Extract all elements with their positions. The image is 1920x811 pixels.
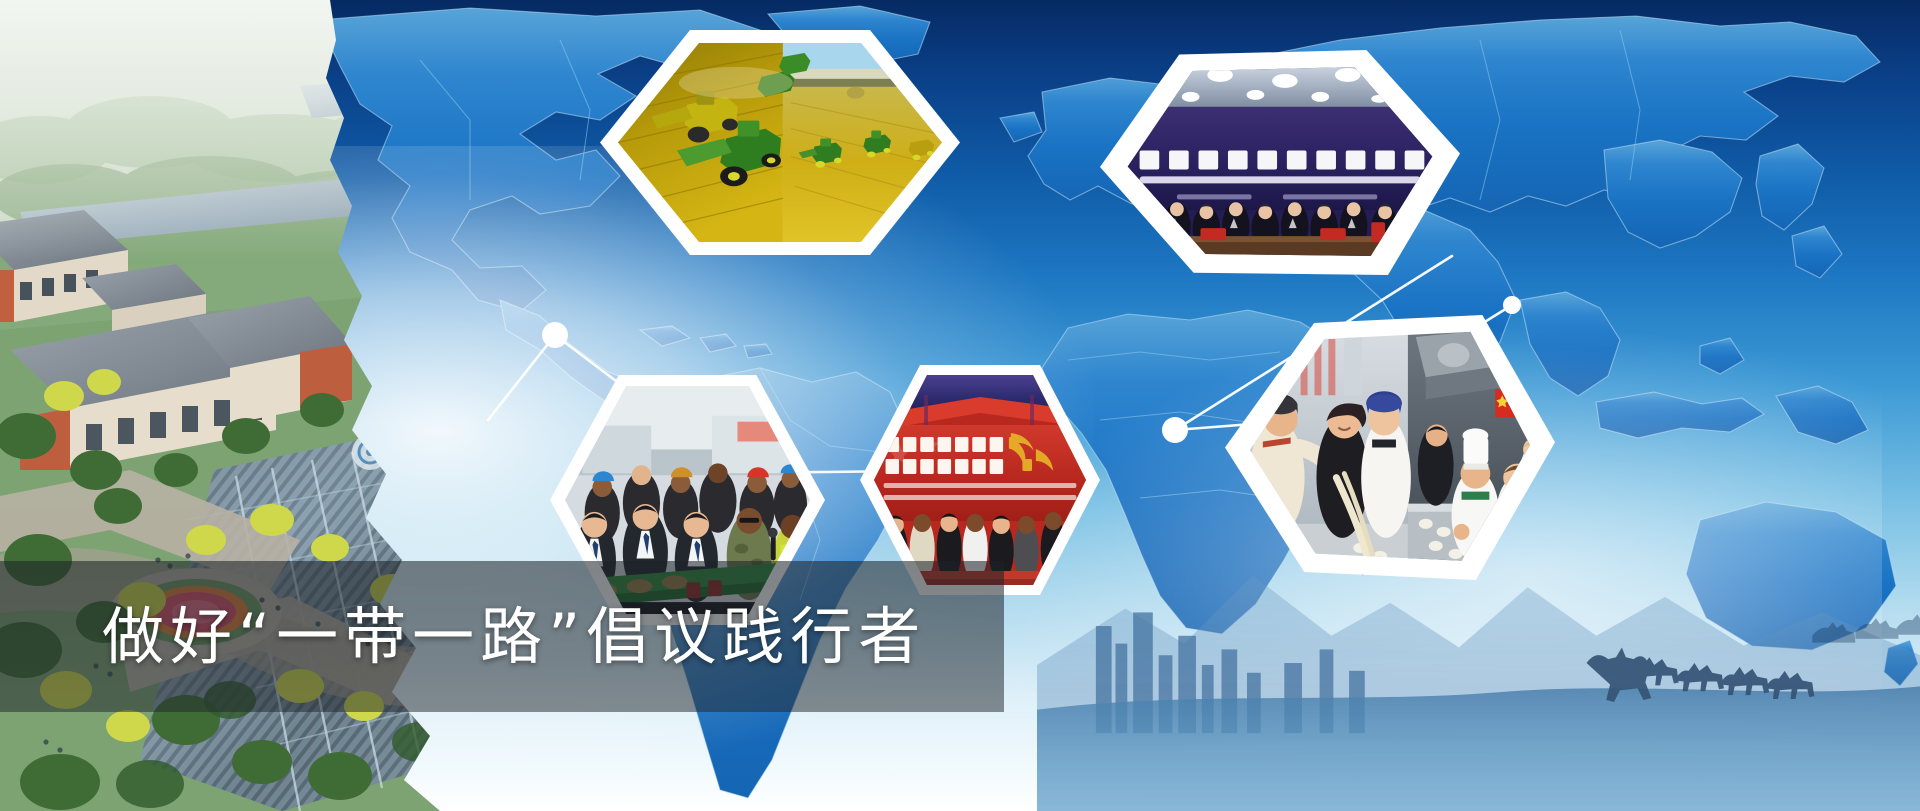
culinary-training-scene [1241, 327, 1539, 568]
opening-ceremony-scene [874, 375, 1086, 585]
headline-band: 做好“一带一路”倡议践行者 [0, 561, 1004, 712]
campus-atmospheric-haze [0, 0, 560, 260]
wheat-harvest-scene [618, 43, 942, 242]
belt-and-road-banner: 做好“一带一路”倡议践行者 [0, 0, 1920, 811]
luban-signing-ceremony [1118, 63, 1442, 262]
page-title: 做好“一带一路”倡议践行者 [102, 606, 926, 668]
